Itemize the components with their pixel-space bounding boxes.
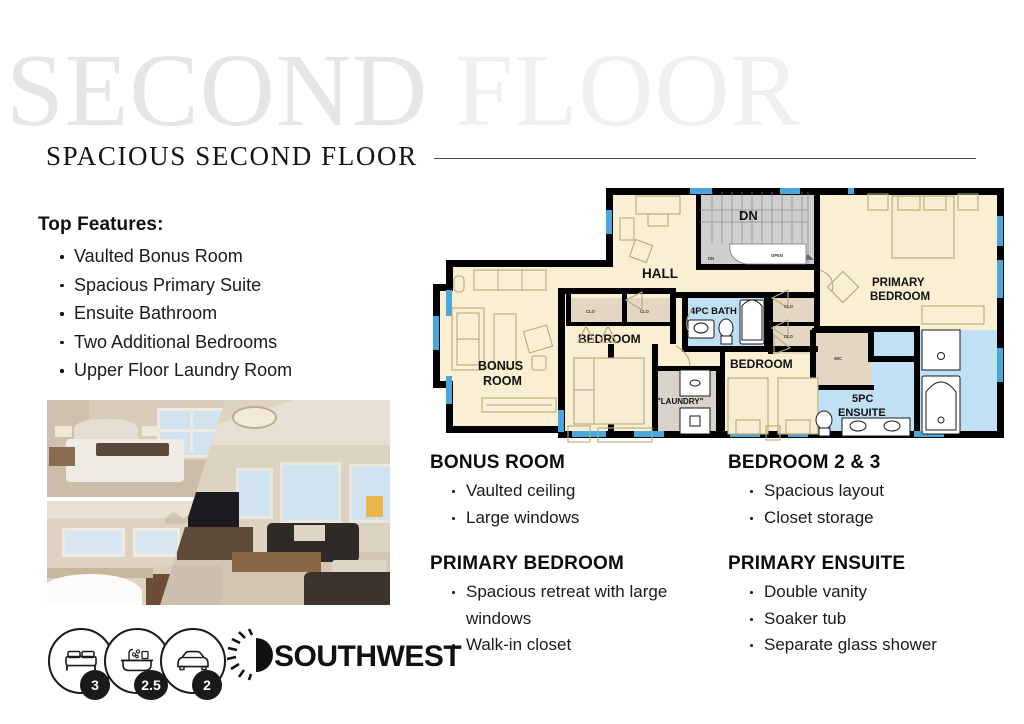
list-item: Spacious layout <box>750 478 1018 505</box>
plan-label-ensuite-1: 5PC <box>852 393 873 405</box>
slide-root: SECOND FLOOR SPACIOUS SECOND FLOOR Top F… <box>0 0 1024 724</box>
page-title-row: SPACIOUS SECOND FLOOR <box>46 140 976 172</box>
plan-label-bonus-2: ROOM <box>483 374 522 388</box>
closet-clo-3 <box>770 296 814 324</box>
list-item: Spacious Primary Suite <box>60 271 408 300</box>
section-list-bonus-room: Vaulted ceiling Large windows <box>430 478 720 531</box>
plan-label-primary-1: PRIMARY <box>872 277 925 289</box>
top-features-list: Vaulted Bonus Room Spacious Primary Suit… <box>38 242 408 385</box>
list-item: Closet storage <box>750 505 1018 532</box>
list-item: Two Additional Bedrooms <box>60 328 408 357</box>
section-list-bedroom-2-3: Spacious layout Closet storage <box>728 478 1018 531</box>
list-item: Soaker tub <box>750 606 1018 633</box>
closet-clo-1 <box>570 298 624 324</box>
title-divider <box>434 158 976 159</box>
top-features-block: Top Features: Vaulted Bonus Room Spaciou… <box>38 214 408 385</box>
plan-label-4pc-bath: 4PC BATH <box>690 306 737 317</box>
closet-wic <box>814 330 872 388</box>
watermark-heading: SECOND FLOOR <box>6 36 1024 146</box>
floor-plan: .rm{fill:#faefd2;} .wet{fill:#bfe0f5;} .… <box>428 180 1016 445</box>
plan-label-primary-2: BEDROOM <box>870 291 930 303</box>
badge-bedrooms-count: 3 <box>80 670 110 700</box>
closet-clo-2 <box>626 298 672 324</box>
brand-logo: SOUTHWEST <box>222 628 427 686</box>
section-list-primary-bedroom: Spacious retreat with large windows Walk… <box>430 579 720 659</box>
descriptions-right-column: BEDROOM 2 & 3 Spacious layout Closet sto… <box>728 452 1018 681</box>
plan-label-clo-1: CLO <box>586 309 596 314</box>
list-item: Double vanity <box>750 579 1018 606</box>
top-features-heading: Top Features: <box>38 214 408 236</box>
plan-label-clo-4: CLO <box>784 334 794 339</box>
plan-label-dn-small: DN <box>708 256 714 261</box>
watermark-word-second: SECOND <box>6 33 428 148</box>
plan-label-clo-3: CLO <box>784 304 794 309</box>
list-item: Ensuite Bathroom <box>60 299 408 328</box>
plan-label-bedroom-mid: BEDROOM <box>730 357 793 371</box>
section-heading-bedroom-2-3: BEDROOM 2 & 3 <box>728 452 1018 474</box>
page-title: SPACIOUS SECOND FLOOR <box>46 141 418 172</box>
plan-label-bonus-1: BONUS <box>478 359 523 373</box>
list-item: Upper Floor Laundry Room <box>60 356 408 385</box>
list-item: Walk-in closet <box>452 632 720 659</box>
section-heading-primary-bedroom: PRIMARY BEDROOM <box>430 553 720 575</box>
list-item: Spacious retreat with large windows <box>452 579 720 632</box>
plan-label-dn: DN <box>739 208 758 223</box>
plan-label-wic: WIC <box>834 356 842 361</box>
descriptions-left-column: BONUS ROOM Vaulted ceiling Large windows… <box>430 452 720 681</box>
badge-garage-count: 2 <box>192 670 222 700</box>
plan-label-open: OPEN <box>771 253 783 258</box>
plan-label-bedroom-left: BEDROOM <box>578 332 641 346</box>
plan-label-ensuite-2: ENSUITE <box>838 407 886 419</box>
plan-label-hall: HALL <box>642 266 678 281</box>
list-item: Large windows <box>452 505 720 532</box>
bed-icon <box>64 649 98 673</box>
section-heading-primary-ensuite: PRIMARY ENSUITE <box>728 553 1018 575</box>
list-item: Vaulted ceiling <box>452 478 720 505</box>
watermark-word-floor: FLOOR <box>455 33 801 148</box>
photo-collage <box>47 400 390 605</box>
brand-name: SOUTHWEST <box>274 640 461 674</box>
plan-label-laundry: "LAUNDRY" <box>657 397 704 406</box>
list-item: Separate glass shower <box>750 632 1018 659</box>
car-icon <box>175 650 211 672</box>
half-sun-icon <box>222 628 278 682</box>
list-item: Vaulted Bonus Room <box>60 242 408 271</box>
section-list-primary-ensuite: Double vanity Soaker tub Separate glass … <box>728 579 1018 659</box>
stairs-open-landing <box>730 244 806 264</box>
section-heading-bonus-room: BONUS ROOM <box>430 452 720 474</box>
